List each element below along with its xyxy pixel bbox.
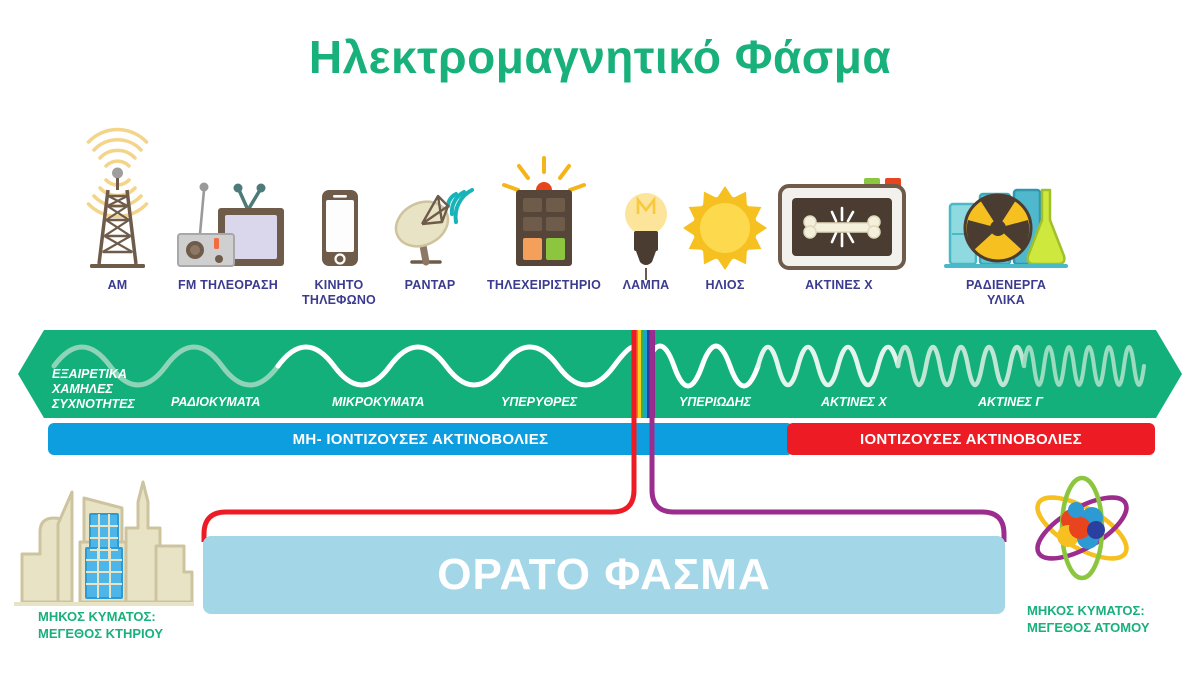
source-item-am: ΑΜ xyxy=(70,128,165,293)
source-item-remote: ΤΗΛΕΧΕΙΡΙΣΤΗΡΙΟ xyxy=(478,128,610,293)
source-label-radar: ΡΑΝΤΑΡ xyxy=(382,278,478,293)
source-label-radioactive: ΡΑΔΙΕΝΕΡΓΑ ΥΛΙΚΑ xyxy=(938,278,1074,308)
source-label-mobile: ΚΙΝΗΤΟ ΤΗΛΕΦΩΝΟ xyxy=(296,278,382,308)
source-label-sun: ΗΛΙΟΣ xyxy=(682,278,768,293)
mobile-phone-icon xyxy=(296,128,382,278)
radio-tower-icon xyxy=(70,128,165,278)
source-item-mobile: ΚΙΝΗΤΟ ΤΗΛΕΦΩΝΟ xyxy=(296,128,382,308)
source-item-fm-tv: FM ΤΗΛΕΟΡΑΣΗ xyxy=(168,128,288,293)
source-item-xray: ΑΚΤΙΝΕΣ Χ xyxy=(772,128,906,293)
visible-spectrum-box: ΟΡΑΤΟ ΦΑΣΜΑ xyxy=(203,536,1005,614)
source-label-fm-tv: FM ΤΗΛΕΟΡΑΣΗ xyxy=(168,278,288,293)
source-item-lamp: ΛΑΜΠΑ xyxy=(608,128,684,293)
remote-control-icon xyxy=(478,128,610,278)
radioactive-materials-icon xyxy=(938,128,1074,278)
light-bulb-icon xyxy=(608,128,684,278)
city-skyline-icon xyxy=(10,476,196,608)
satellite-dish-icon xyxy=(382,128,478,278)
source-label-am: ΑΜ xyxy=(70,278,165,293)
atom-icon xyxy=(1022,470,1142,594)
source-icon-row: ΑΜ xyxy=(0,128,1200,328)
radio-tv-icon xyxy=(168,128,288,278)
source-label-remote: ΤΗΛΕΧΕΙΡΙΣΤΗΡΙΟ xyxy=(478,278,610,293)
sun-icon xyxy=(682,128,768,278)
source-label-xray: ΑΚΤΙΝΕΣ Χ xyxy=(772,278,906,293)
source-item-sun: ΗΛΙΟΣ xyxy=(682,128,768,293)
caption-right-wavelength: ΜΗΚΟΣ ΚΥΜΑΤΟΣ: ΜΕΓΕΘΟΣ ΑΤΟΜΟΥ xyxy=(1027,602,1150,636)
caption-left-wavelength: ΜΗΚΟΣ ΚΥΜΑΤΟΣ: ΜΕΓΕΘΟΣ ΚΤΗΡΙΟΥ xyxy=(38,608,163,642)
source-item-radioactive: ΡΑΔΙΕΝΕΡΓΑ ΥΛΙΚΑ xyxy=(938,128,1074,308)
source-label-lamp: ΛΑΜΠΑ xyxy=(608,278,684,293)
page-title: Ηλεκτρομαγνητικό Φάσμα xyxy=(0,30,1200,84)
source-item-radar: ΡΑΝΤΑΡ xyxy=(382,128,478,293)
xray-machine-icon xyxy=(772,128,906,278)
infographic-root: Ηλεκτρομαγνητικό Φάσμα xyxy=(0,0,1200,684)
